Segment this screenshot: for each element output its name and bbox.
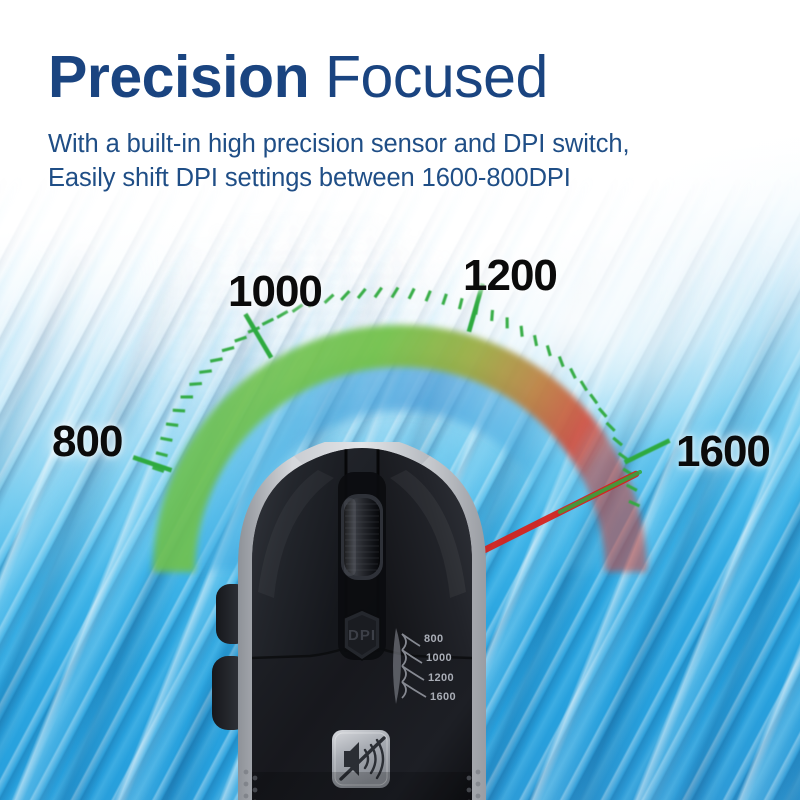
page-title: Precision Focused	[48, 46, 768, 109]
headline-strong: Precision	[48, 44, 309, 110]
subtitle: With a built-in high precision sensor an…	[48, 127, 768, 196]
dial-label-800: 800	[52, 420, 122, 464]
wireless-mouse-product-image: DPI 800 1000	[178, 442, 546, 800]
dial-label-1600: 1600	[676, 430, 770, 474]
dpi-scale-800: 800	[424, 633, 444, 645]
scroll-wheel[interactable]	[341, 494, 383, 580]
dpi-scale-1000: 1000	[426, 652, 452, 664]
dpi-button-label: DPI	[348, 627, 376, 644]
subtitle-line-1: With a built-in high precision sensor an…	[48, 127, 768, 162]
subtitle-line-2: Easily shift DPI settings between 1600-8…	[48, 161, 768, 196]
dial-label-1200: 1200	[463, 254, 557, 298]
dpi-scale-1600: 1600	[430, 691, 456, 703]
dpi-scale-1200: 1200	[428, 672, 454, 684]
marketing-copy: Precision Focused With a built-in high p…	[48, 46, 768, 196]
dial-label-1000: 1000	[228, 270, 322, 314]
product-marketing-banner: 800 1000 1200 1600	[0, 0, 800, 800]
dpi-switch-button[interactable]: DPI	[344, 610, 380, 660]
headline-light: Focused	[309, 44, 548, 110]
